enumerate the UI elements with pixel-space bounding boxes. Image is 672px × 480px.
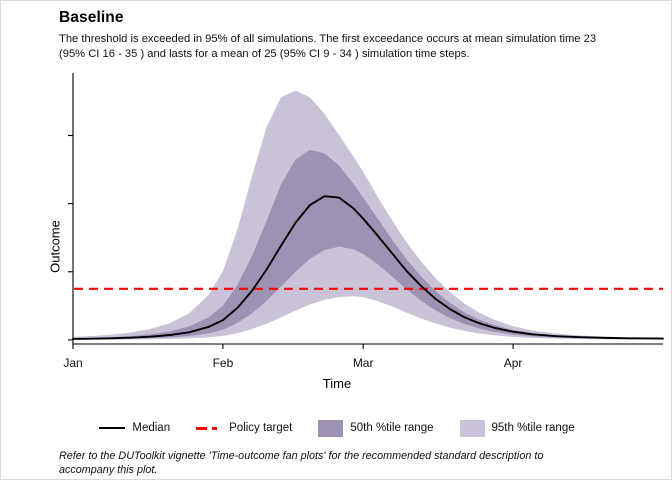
x-axis-tick-labels: JanFebMarApr [1, 356, 672, 374]
y-axis-title: Outcome [48, 187, 63, 307]
legend-item-policy-target: Policy target [196, 422, 292, 434]
fan-chart-svg [1, 71, 672, 371]
policy-target-dash-swatch [196, 427, 222, 430]
fan-plot-page: Baseline The threshold is exceeded in 95… [0, 0, 672, 480]
legend-label-median: Median [132, 422, 170, 434]
footnote-line-1: Refer to the DUToolkit vignette 'Time-ou… [59, 449, 663, 463]
band-50-color-swatch [318, 420, 343, 437]
x-axis-tick-label: Feb [193, 356, 253, 370]
legend-label-band-95: 95th %tile range [492, 422, 575, 434]
x-axis-tick-label: Jan [43, 356, 103, 370]
subtitle-line-2: (95% CI 16 - 35 ) and lasts for a mean o… [59, 47, 659, 62]
x-axis-title: Time [1, 376, 672, 391]
legend-item-band-50: 50th %tile range [318, 420, 433, 437]
subtitle-line-1: The threshold is exceeded in 95% of all … [59, 32, 659, 47]
page-title: Baseline [59, 9, 124, 27]
legend-label-policy-target: Policy target [229, 422, 292, 434]
footnote-line-2: accompany this plot. [59, 463, 663, 477]
chart-legend: Median Policy target 50th %tile range 95… [1, 413, 672, 443]
chart-footnote: Refer to the DUToolkit vignette 'Time-ou… [59, 449, 663, 477]
median-line-swatch [99, 427, 125, 429]
band-95-color-swatch [460, 420, 485, 437]
legend-label-band-50: 50th %tile range [350, 422, 433, 434]
x-axis-tick-label: Mar [333, 356, 393, 370]
band-50-area [73, 150, 663, 340]
x-axis-tick-label: Apr [483, 356, 543, 370]
page-subtitle: The threshold is exceeded in 95% of all … [59, 32, 659, 62]
legend-item-median: Median [99, 422, 170, 434]
legend-item-band-95: 95th %tile range [460, 420, 575, 437]
chart-plot-area: 0100020003000 Outcome [1, 71, 672, 371]
